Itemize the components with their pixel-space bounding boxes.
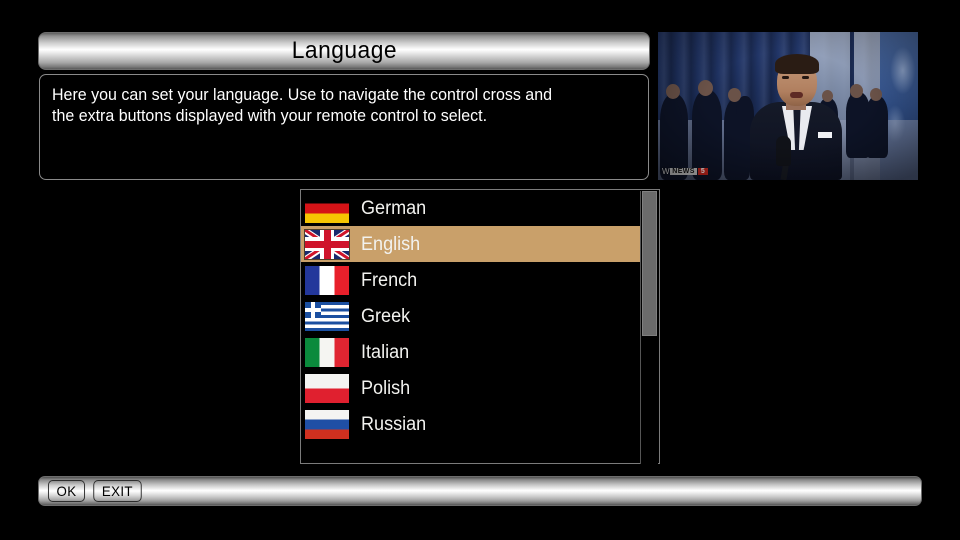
page-title: Language	[291, 39, 396, 63]
language-list-item[interactable]: Italian	[301, 334, 641, 370]
flag-france-icon	[305, 266, 349, 295]
ok-button[interactable]: OK	[48, 480, 85, 502]
flag-germany-icon	[305, 194, 349, 223]
flag-italy-icon	[305, 338, 349, 367]
language-list-scrollbar[interactable]	[640, 191, 658, 464]
page-title-bar: Language	[38, 32, 650, 70]
tv-settings-screen: Language Here you can set your language.…	[0, 0, 960, 540]
scrollbar-thumb[interactable]	[642, 191, 657, 336]
language-list-item-label: Polish	[361, 379, 410, 398]
language-list-item[interactable]: French	[301, 262, 641, 298]
language-list-item[interactable]: German	[301, 190, 641, 226]
description-panel: Here you can set your language. Use to n…	[39, 74, 649, 180]
language-list-item[interactable]: Russian	[301, 406, 641, 442]
language-list-item-label: German	[361, 199, 426, 218]
flag-united-kingdom-icon	[305, 230, 349, 259]
flag-greece-icon	[305, 302, 349, 331]
language-list[interactable]: GermanEnglishFrenchGreekItalianPolishRus…	[300, 189, 660, 464]
language-list-item-label: Russian	[361, 415, 426, 434]
flag-poland-icon	[305, 374, 349, 403]
flag-russia-icon	[305, 410, 349, 439]
exit-button[interactable]: EXIT	[93, 480, 141, 502]
footer-button-bar: OK EXIT	[38, 476, 922, 506]
video-preview[interactable]: W NEWS 5	[658, 32, 918, 180]
language-list-item[interactable]: English	[301, 226, 641, 262]
language-list-rows: GermanEnglishFrenchGreekItalianPolishRus…	[301, 190, 641, 463]
description-text: Here you can set your language. Use to n…	[52, 85, 618, 127]
language-list-item-label: French	[361, 271, 417, 290]
language-list-item[interactable]: Greek	[301, 298, 641, 334]
language-list-item-label: Greek	[361, 307, 410, 326]
language-list-item-label: Italian	[361, 343, 409, 362]
language-list-item[interactable]: Polish	[301, 370, 641, 406]
language-list-item-label: English	[361, 235, 420, 254]
video-vignette	[658, 32, 918, 180]
